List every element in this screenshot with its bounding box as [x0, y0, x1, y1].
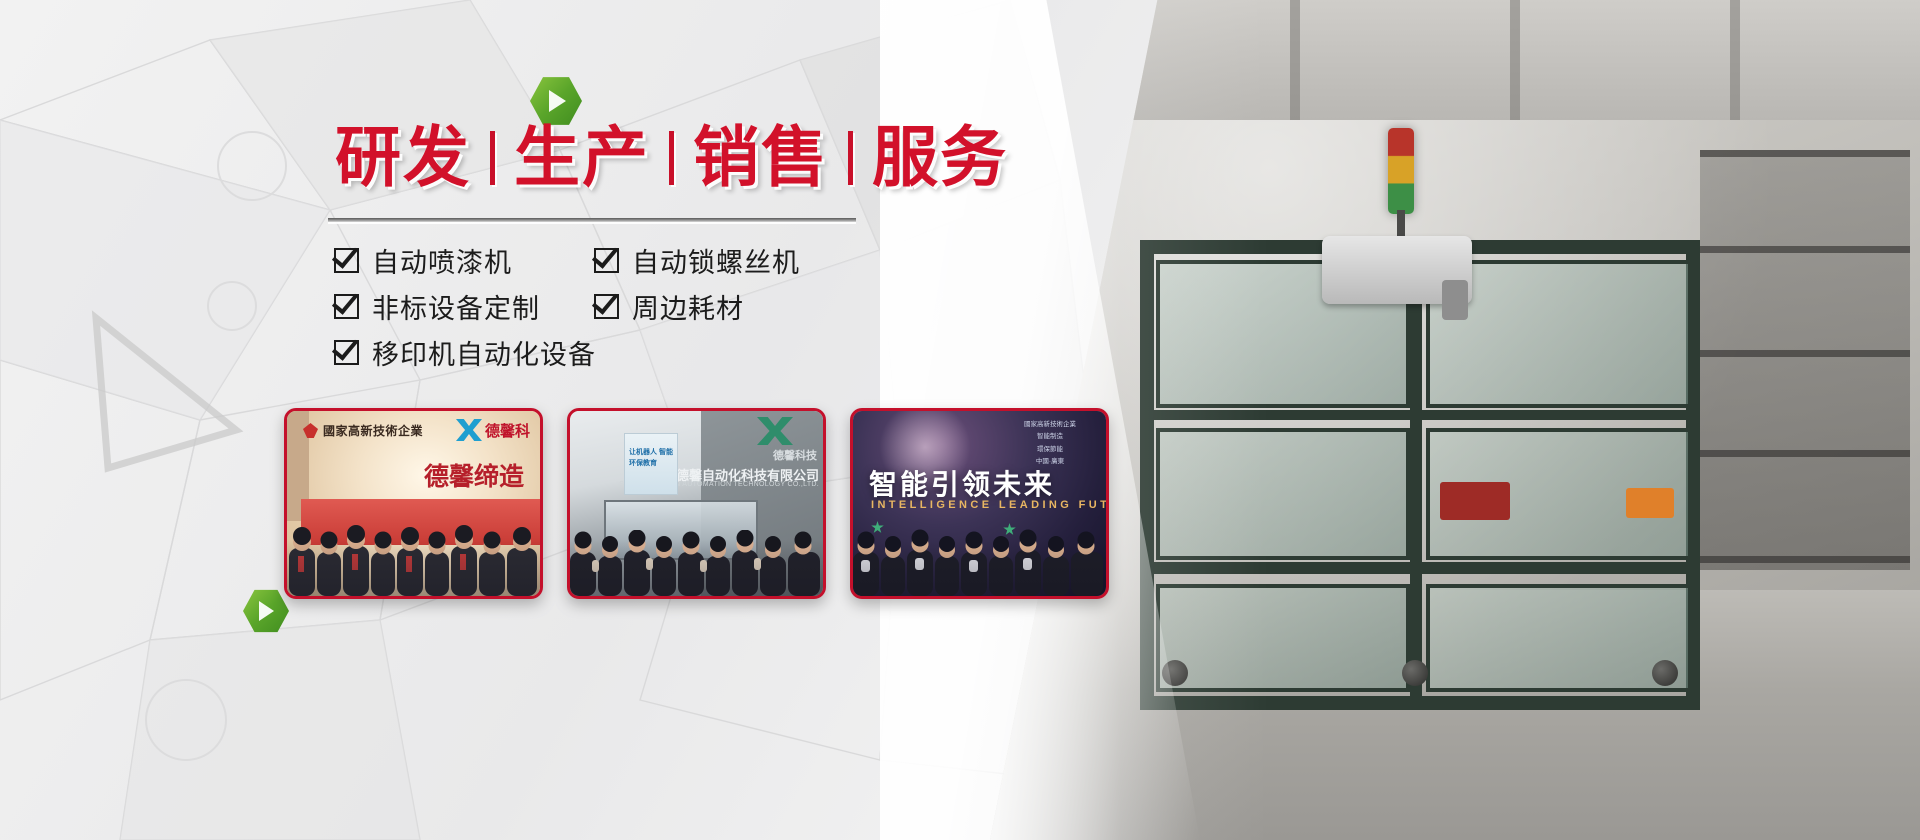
checkbox-checked-icon: [594, 294, 619, 319]
card1-honor-badge: 國家高新技術企業: [303, 422, 423, 439]
card3-title-cn: 智能引领未来: [869, 463, 1055, 503]
checkbox-checked-icon: [334, 248, 359, 273]
card3-title-en: INTELLIGENCE LEADING FUTURE: [871, 499, 1109, 511]
photo-card-intelligence-future[interactable]: 國家高新技術企業 智能制造 環保節能 中國·廣東 智能引领未来 INTELLIG…: [850, 408, 1109, 599]
hero-banner: 研发 生产 销售 服务 自动喷漆机 自动锁螺丝机 非标设备定制 周边耗材 移印机…: [0, 0, 1920, 840]
feature-item-3: 非标设备定制: [334, 284, 594, 328]
feature-label: 移印机自动化设备: [372, 333, 596, 372]
photo-card-company-honor[interactable]: 國家高新技術企業 德馨科 德馨缔造: [284, 408, 543, 599]
play-hexagon-icon: [243, 588, 289, 634]
checkbox-checked-icon: [594, 248, 619, 273]
feature-label: 非标设备定制: [372, 287, 540, 326]
headline-word-3: 销售: [683, 125, 839, 191]
checkbox-checked-icon: [334, 294, 359, 319]
feature-item-4: 周边耗材: [594, 284, 854, 328]
headline-word-4: 服务: [862, 125, 1018, 191]
feature-item-2: 自动锁螺丝机: [594, 238, 854, 282]
card1-brush-text: 德馨缔造: [424, 457, 524, 493]
card2-brand-cn: 德馨科技: [773, 447, 817, 463]
headline: 研发 生产 销售 服务: [325, 125, 1018, 191]
card1-badge-text: 國家高新技術企業: [323, 422, 423, 439]
headline-separator: [848, 131, 853, 185]
headline-separator: [669, 131, 674, 185]
card2-poster: 让机器人 智能环保教育: [624, 433, 678, 495]
headline-word-2: 生产: [504, 125, 660, 191]
headline-separator: [490, 131, 495, 185]
dexin-x-logo-icon: [456, 419, 482, 441]
card3-tag-2: 智能制造: [1002, 431, 1098, 443]
feature-item-1: 自动喷漆机: [334, 238, 594, 282]
card3-tag-1: 國家高新技術企業: [1002, 419, 1098, 431]
flame-icon: [303, 423, 318, 438]
headline-divider: [328, 218, 856, 222]
checkbox-checked-icon: [334, 340, 359, 365]
card1-brand-cn: 德馨科: [485, 420, 530, 441]
photo-card-list: 國家高新技術企業 德馨科 德馨缔造: [284, 408, 1109, 599]
photo-card-exhibition-booth[interactable]: 德馨科技 汕头市德馨自动化科技有限公司 SHANTOU DEXIN AUTOMA…: [567, 408, 826, 599]
headline-word-1: 研发: [325, 125, 481, 191]
card3-tag-3: 環保節能: [1002, 444, 1098, 456]
feature-label: 周边耗材: [632, 287, 744, 326]
feature-label: 自动锁螺丝机: [632, 241, 800, 280]
feature-label: 自动喷漆机: [372, 241, 512, 280]
card3-tag-list: 國家高新技術企業 智能制造 環保節能 中國·廣東: [1002, 419, 1098, 468]
feature-item-5: 移印机自动化设备: [334, 330, 854, 374]
feature-list: 自动喷漆机 自动锁螺丝机 非标设备定制 周边耗材 移印机自动化设备: [334, 236, 854, 374]
card2-poster-text: 让机器人 智能环保教育: [629, 448, 673, 469]
card1-brand-logo: 德馨科: [456, 419, 530, 441]
